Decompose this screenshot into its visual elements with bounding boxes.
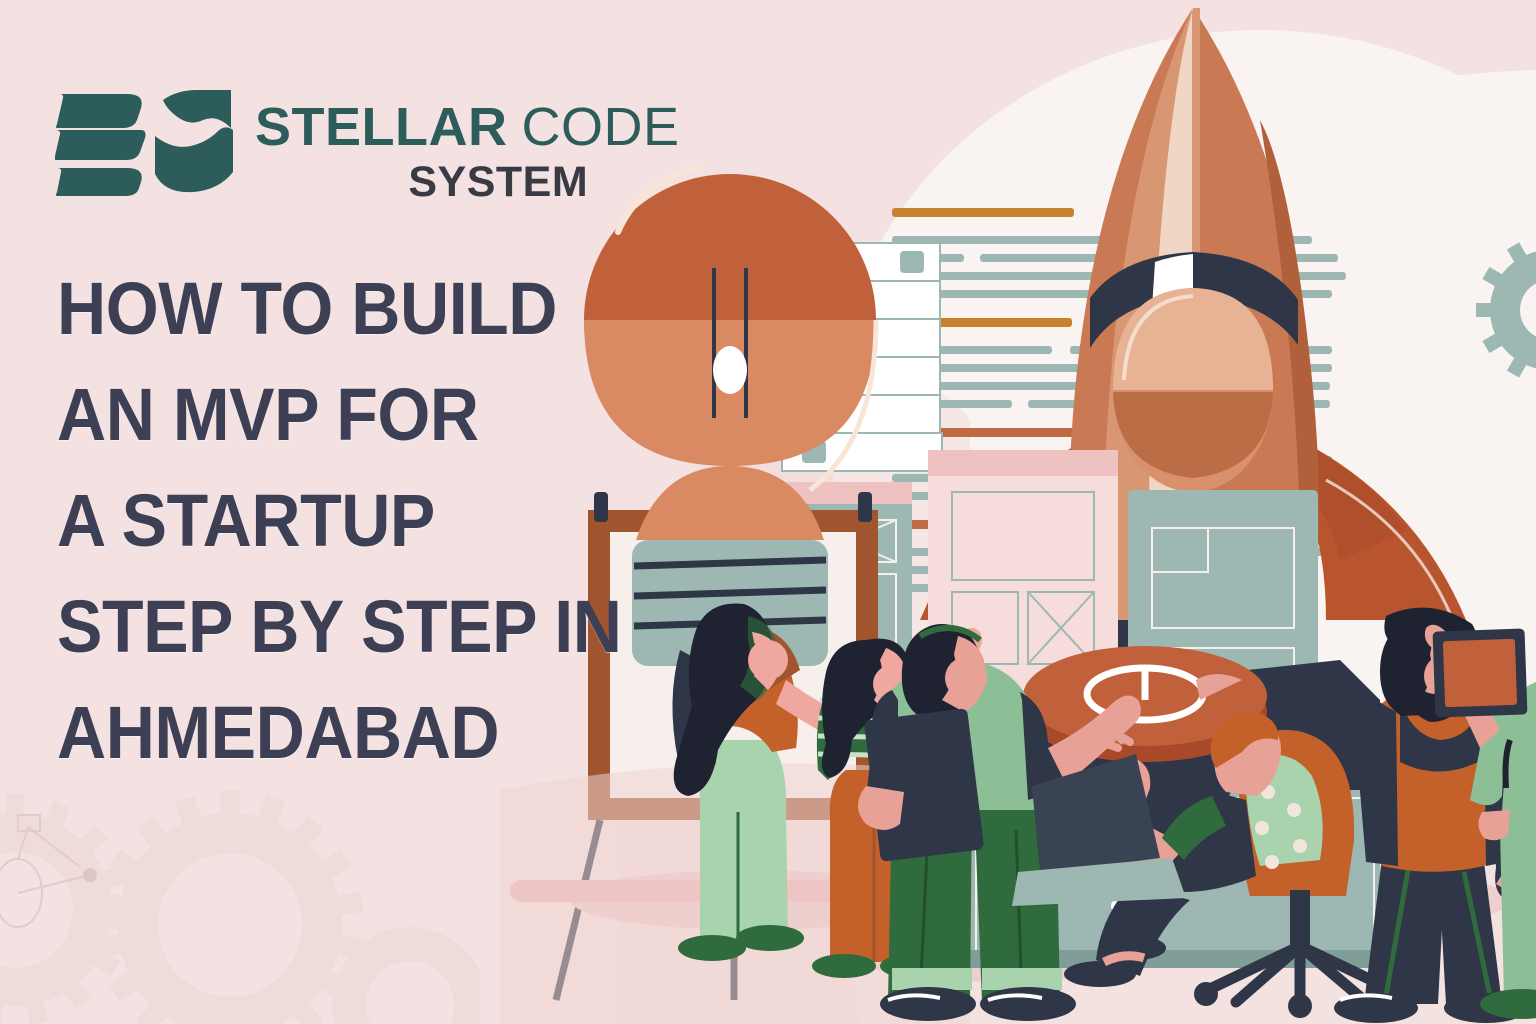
brand-logo[interactable]: STELLARCODE SYSTEM	[55, 88, 680, 205]
brand-name-stellar: STELLAR	[255, 97, 508, 157]
brand-name-code: CODE	[522, 97, 680, 157]
tablet-held	[864, 708, 985, 862]
brand-name-system: SYSTEM	[255, 160, 680, 205]
page-title: HOW TO BUILD AN MVP FOR A STARTUP STEP B…	[57, 272, 617, 802]
headline-line-4: STEP BY STEP IN	[57, 590, 572, 664]
headline-line-2: AN MVP FOR	[57, 378, 572, 452]
brand-wordmark: STELLARCODE SYSTEM	[255, 88, 680, 205]
headline-line-5: AHMEDABAD	[57, 696, 572, 770]
sc-monogram-logo-icon	[55, 88, 233, 196]
headline-line-1: HOW TO BUILD	[57, 272, 572, 346]
headline-line-3: A STARTUP	[57, 484, 572, 558]
blog-banner: STELLARCODE SYSTEM HOW TO BUILD AN MVP F…	[0, 0, 1536, 1024]
